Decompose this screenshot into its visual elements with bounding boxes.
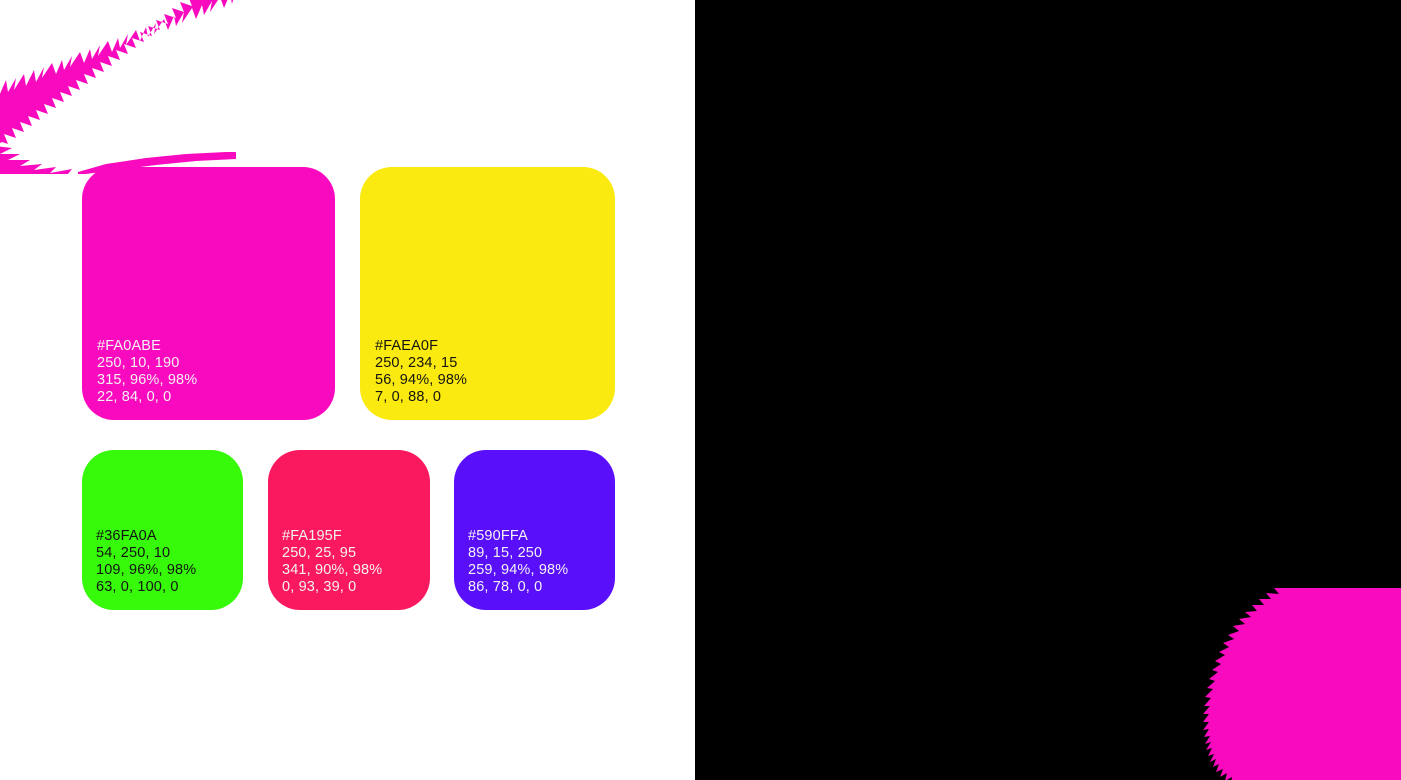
- swatch-hex: #FA195F: [282, 528, 342, 544]
- color-swatch-purple: #590FFA 89, 15, 250 259, 94%, 98% 86, 78…: [454, 450, 615, 610]
- color-swatch-red-values: #FA195F 250, 25, 95 341, 90%, 98% 0, 93,…: [282, 528, 382, 596]
- swatch-cmyk: 22, 84, 0, 0: [97, 389, 171, 405]
- color-swatch-yellow: #FAEA0F 250, 234, 15 56, 94%, 98% 7, 0, …: [360, 167, 615, 420]
- swatch-hsb: 109, 96%, 98%: [96, 562, 196, 578]
- swatch-cmyk: 0, 93, 39, 0: [282, 579, 356, 595]
- swatch-rgb: 250, 234, 15: [375, 355, 457, 371]
- swatch-hex: #590FFA: [468, 528, 528, 544]
- swatch-hex: #FA0ABE: [97, 338, 161, 354]
- swatch-hex: #36FA0A: [96, 528, 157, 544]
- swatch-rgb: 54, 250, 10: [96, 545, 170, 561]
- brand-style-guide: #FA0ABE 250, 10, 190 315, 96%, 98% 22, 8…: [0, 0, 1401, 780]
- swatch-cmyk: 63, 0, 100, 0: [96, 579, 179, 595]
- swatch-rgb: 89, 15, 250: [468, 545, 542, 561]
- swatch-cmyk: 7, 0, 88, 0: [375, 389, 441, 405]
- swatch-hsb: 56, 94%, 98%: [375, 372, 467, 388]
- brush-stroke-bottom-right: [1198, 588, 1401, 780]
- swatch-cmyk: 86, 78, 0, 0: [468, 579, 542, 595]
- color-palette-panel: #FA0ABE 250, 10, 190 315, 96%, 98% 22, 8…: [0, 0, 695, 780]
- swatch-hsb: 315, 96%, 98%: [97, 372, 197, 388]
- swatch-hex: #FAEA0F: [375, 338, 438, 354]
- color-swatch-green: #36FA0A 54, 250, 10 109, 96%, 98% 63, 0,…: [82, 450, 243, 610]
- swatch-hsb: 259, 94%, 98%: [468, 562, 568, 578]
- color-swatch-purple-values: #590FFA 89, 15, 250 259, 94%, 98% 86, 78…: [468, 528, 568, 596]
- brush-stroke-top-left: [0, 0, 236, 174]
- color-swatch-red: #FA195F 250, 25, 95 341, 90%, 98% 0, 93,…: [268, 450, 430, 610]
- color-swatch-green-values: #36FA0A 54, 250, 10 109, 96%, 98% 63, 0,…: [96, 528, 196, 596]
- color-swatch-pink-values: #FA0ABE 250, 10, 190 315, 96%, 98% 22, 8…: [97, 338, 197, 406]
- swatch-rgb: 250, 10, 190: [97, 355, 179, 371]
- color-swatch-pink: #FA0ABE 250, 10, 190 315, 96%, 98% 22, 8…: [82, 167, 335, 420]
- swatch-rgb: 250, 25, 95: [282, 545, 356, 561]
- color-swatch-yellow-values: #FAEA0F 250, 234, 15 56, 94%, 98% 7, 0, …: [375, 338, 467, 406]
- typography-panel: Aa Eigerdals ABCDEFGHIJKLMNOPQRSTUVWXYZ …: [695, 0, 1401, 780]
- swatch-hsb: 341, 90%, 98%: [282, 562, 382, 578]
